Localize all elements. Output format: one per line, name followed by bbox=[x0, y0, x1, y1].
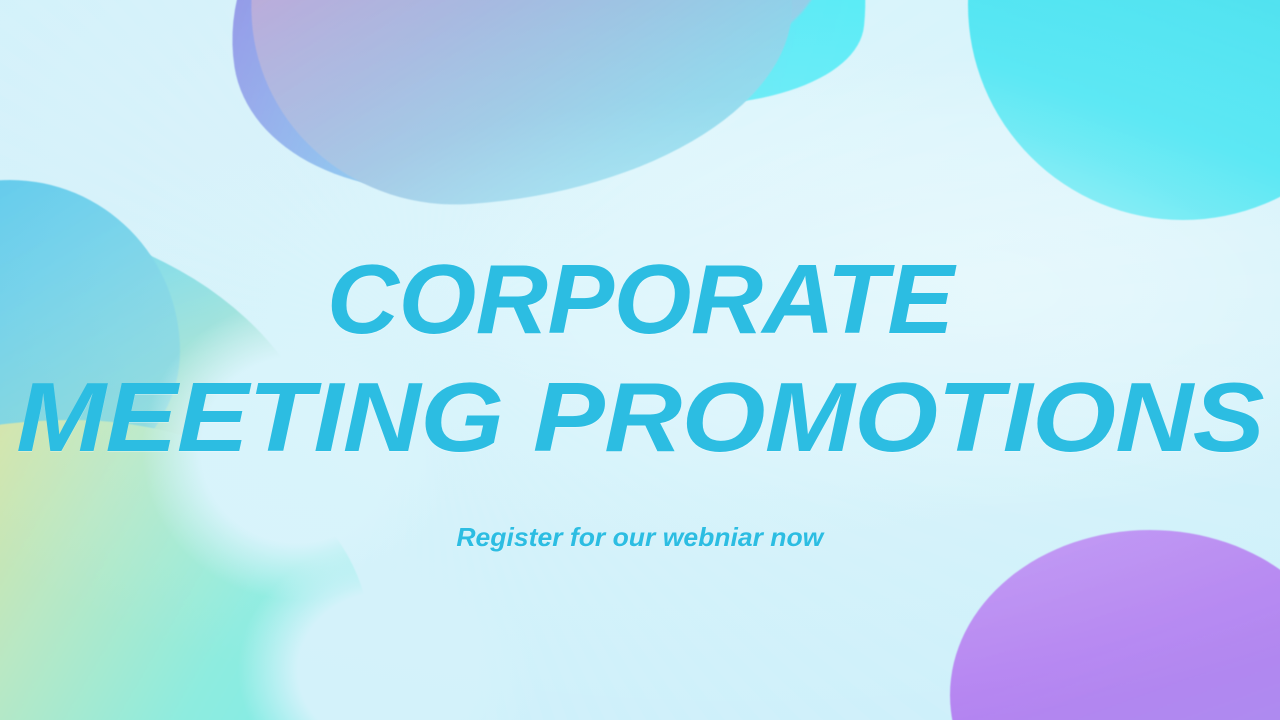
promo-slide: CORPORATE MEETING PROMOTIONS Register fo… bbox=[0, 0, 1280, 720]
headline-line-1: CORPORATE bbox=[327, 250, 954, 348]
subtitle-text: Register for our webniar now bbox=[457, 522, 824, 553]
slide-content: CORPORATE MEETING PROMOTIONS Register fo… bbox=[0, 0, 1280, 720]
headline-line-2: MEETING PROMOTIONS bbox=[16, 368, 1264, 466]
